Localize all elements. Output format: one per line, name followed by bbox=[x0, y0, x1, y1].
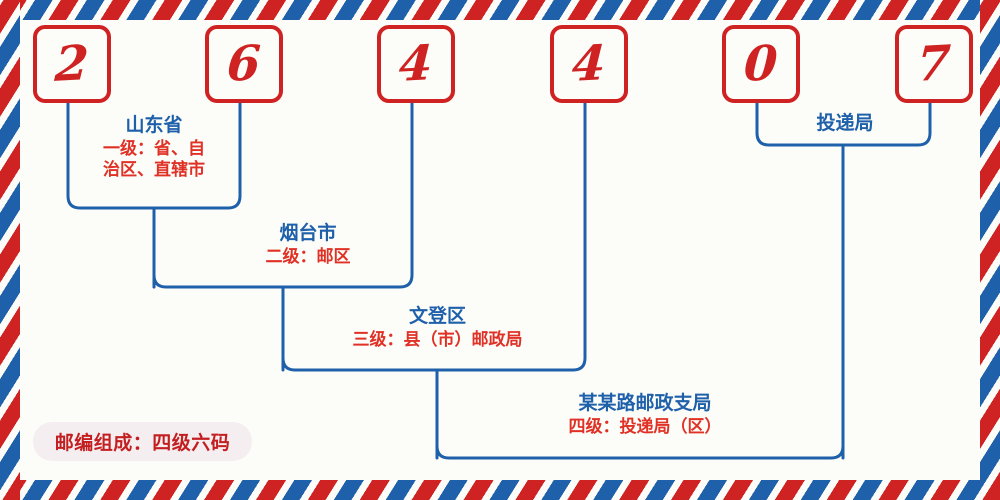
postcode-composition-badge: 邮编组成：四级六码 bbox=[33, 422, 252, 461]
postcode-digit-4: 4 bbox=[571, 39, 607, 89]
postcode-digit-box-4[interactable]: 4 bbox=[550, 25, 628, 103]
postcode-digit-box-2[interactable]: 6 bbox=[205, 25, 283, 103]
level-1-label: 山东省 一级：省、自 治区、直辖市 bbox=[74, 114, 234, 181]
level-4-label: 某某路邮政支局 四级：投递局（区） bbox=[455, 392, 835, 438]
postcode-digit-5: 0 bbox=[743, 39, 779, 89]
level-3-title: 文登区 bbox=[300, 305, 575, 328]
postcode-digit-box-5[interactable]: 0 bbox=[722, 25, 800, 103]
postcode-digit-box-6[interactable]: 7 bbox=[895, 25, 973, 103]
delivery-office-title: 投递局 bbox=[765, 108, 925, 135]
postcode-digit-1: 2 bbox=[54, 39, 90, 89]
postcode-digit-3: 4 bbox=[398, 39, 434, 89]
delivery-office-label: 投递局 bbox=[765, 108, 925, 135]
level-4-subtitle: 四级：投递局（区） bbox=[455, 417, 835, 438]
postcode-digit-2: 6 bbox=[226, 39, 262, 89]
level-1-title: 山东省 bbox=[74, 114, 234, 137]
postcode-digit-box-1[interactable]: 2 bbox=[33, 25, 111, 103]
level-2-subtitle: 二级：邮区 bbox=[188, 247, 428, 268]
postcode-composition-text: 邮编组成：四级六码 bbox=[55, 428, 231, 455]
postcode-digit-box-3[interactable]: 4 bbox=[377, 25, 455, 103]
level-4-title: 某某路邮政支局 bbox=[455, 392, 835, 415]
level-1-subtitle-line-2: 治区、直辖市 bbox=[74, 160, 234, 181]
level-3-subtitle: 三级：县（市）邮政局 bbox=[300, 330, 575, 351]
level-1-subtitle-line-1: 一级：省、自 bbox=[74, 139, 234, 160]
level-2-title: 烟台市 bbox=[188, 222, 428, 245]
postcode-infographic: 2 6 4 4 0 7 山东省 一级：省、自 治区、直辖市 烟台市 二级：邮区 … bbox=[0, 0, 1000, 500]
level-2-label: 烟台市 二级：邮区 bbox=[188, 222, 428, 268]
postcode-digit-6: 7 bbox=[916, 39, 952, 89]
level-3-label: 文登区 三级：县（市）邮政局 bbox=[300, 305, 575, 351]
